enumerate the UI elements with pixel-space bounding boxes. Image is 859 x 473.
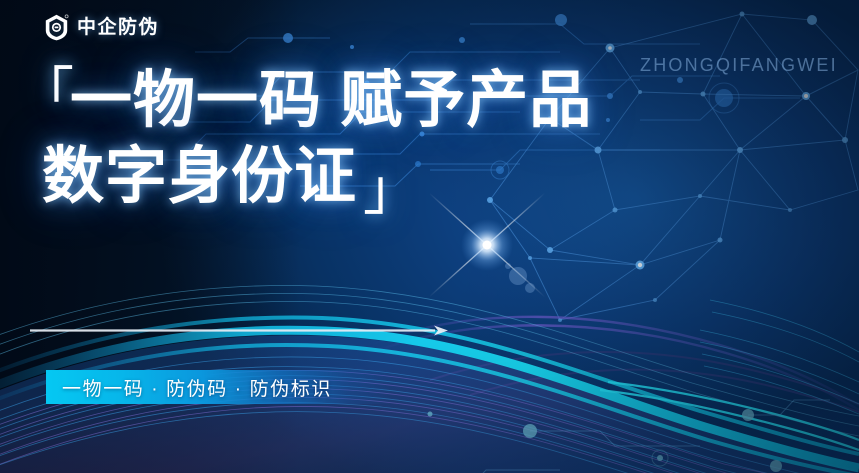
brand-name: 中企防伪 — [77, 18, 159, 37]
subtitle-text: 一物一码 · 防伪码 · 防伪标识 — [46, 374, 332, 401]
headline-block: 「 一物一码 赋予产品 数字身份证 」 — [0, 70, 560, 208]
headline-text-1: 一物一码 赋予产品 — [70, 70, 592, 132]
subtitle-bar: 一物一码 · 防伪码 · 防伪标识 — [46, 370, 391, 404]
headline-line-1: 「 一物一码 赋予产品 — [0, 70, 560, 132]
promo-banner: 中企防伪 ZHONGQIFANGWEI 「 一物一码 赋予产品 数字身份证 」 … — [0, 0, 859, 473]
close-bracket: 」 — [363, 166, 419, 214]
headline-text-2: 数字身份证 — [42, 146, 357, 208]
open-bracket: 「 — [18, 70, 74, 118]
headline-line-2: 数字身份证 」 — [0, 146, 560, 208]
arrow-line — [30, 325, 450, 336]
hexagon-shield-icon — [44, 14, 69, 41]
pinyin-watermark: ZHONGQIFANGWEI — [640, 55, 838, 76]
brand-logo[interactable]: 中企防伪 — [44, 14, 159, 41]
